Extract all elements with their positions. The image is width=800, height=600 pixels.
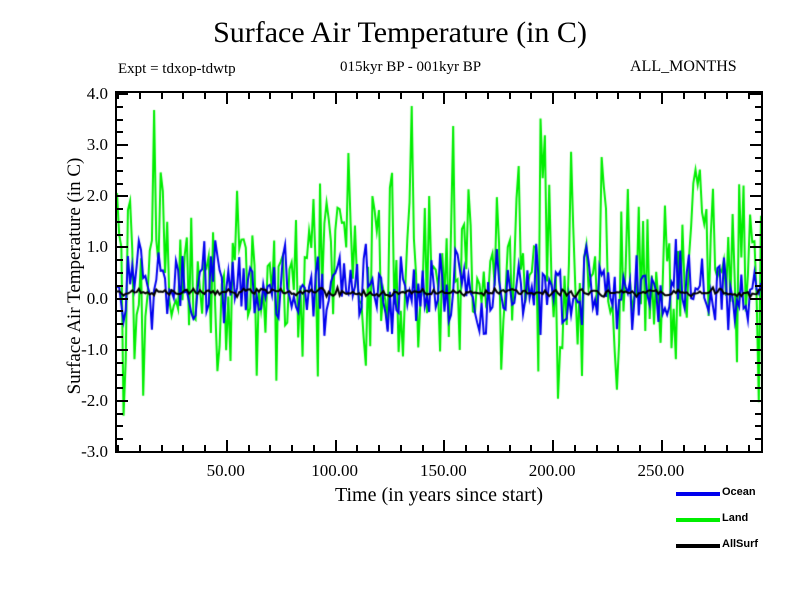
tick-mark	[117, 451, 128, 453]
tick-mark	[117, 400, 128, 402]
tick-mark	[750, 298, 761, 300]
y-tick-label: 2.0	[60, 187, 108, 204]
page-title: Surface Air Temperature (in C)	[0, 16, 800, 50]
tick-mark	[291, 93, 293, 99]
tick-mark	[755, 157, 761, 159]
chart-legend: OceanLandAllSurf	[676, 484, 796, 562]
tick-mark	[755, 259, 761, 261]
tick-mark	[356, 93, 358, 99]
tick-mark	[465, 445, 467, 451]
tick-mark	[661, 93, 663, 104]
y-tick-label: 4.0	[60, 85, 108, 102]
tick-mark	[755, 208, 761, 210]
y-tick-label: -1.0	[60, 341, 108, 358]
tick-mark	[755, 221, 761, 223]
tick-mark	[291, 445, 293, 451]
tick-mark	[117, 119, 123, 121]
tick-mark	[755, 438, 761, 440]
tick-mark	[755, 387, 761, 389]
tick-mark	[117, 445, 119, 451]
tick-mark	[117, 336, 123, 338]
tick-mark	[487, 445, 489, 451]
tick-mark	[117, 234, 123, 236]
tick-mark	[161, 445, 163, 451]
tick-mark	[639, 445, 641, 451]
y-tick-label: -2.0	[60, 392, 108, 409]
tick-mark	[182, 445, 184, 451]
x-axis-title: Time (in years since start)	[115, 483, 763, 507]
legend-item-land[interactable]: Land	[676, 510, 796, 536]
tick-mark	[117, 362, 123, 364]
tick-mark	[313, 445, 315, 451]
tick-mark	[755, 272, 761, 274]
experiment-label: Expt = tdxop-tdwtp	[118, 60, 236, 78]
x-tick-label: 50.00	[181, 462, 271, 479]
months-label: ALL_MONTHS	[630, 58, 737, 76]
tick-mark	[378, 93, 380, 99]
legend-item-allsurf[interactable]: AllSurf	[676, 536, 796, 562]
tick-mark	[574, 445, 576, 451]
tick-mark	[117, 195, 128, 197]
tick-mark	[117, 374, 123, 376]
tick-mark	[204, 93, 206, 99]
tick-mark	[117, 413, 123, 415]
tick-mark	[117, 298, 128, 300]
legend-label: Land	[722, 511, 748, 525]
tick-mark	[755, 170, 761, 172]
tick-mark	[117, 183, 123, 185]
tick-mark	[726, 93, 728, 99]
tick-mark	[204, 445, 206, 451]
tick-mark	[509, 93, 511, 99]
tick-mark	[117, 323, 123, 325]
tick-mark	[704, 445, 706, 451]
tick-mark	[755, 323, 761, 325]
tick-mark	[378, 445, 380, 451]
tick-mark	[422, 93, 424, 99]
legend-swatch	[676, 544, 720, 548]
tick-mark	[596, 93, 598, 99]
tick-mark	[335, 93, 337, 104]
legend-label: AllSurf	[722, 537, 758, 551]
tick-mark	[226, 93, 228, 104]
tick-mark	[530, 445, 532, 451]
tick-mark	[530, 93, 532, 99]
y-tick-label: 1.0	[60, 238, 108, 255]
x-tick-label: 150.00	[398, 462, 488, 479]
tick-mark	[139, 445, 141, 451]
tick-mark	[117, 170, 123, 172]
tick-mark	[755, 119, 761, 121]
tick-mark	[117, 310, 123, 312]
tick-mark	[117, 144, 128, 146]
tick-mark	[683, 93, 685, 99]
tick-mark	[139, 93, 141, 99]
tick-mark	[755, 234, 761, 236]
tick-mark	[422, 445, 424, 451]
tick-mark	[755, 310, 761, 312]
tick-mark	[117, 259, 123, 261]
y-tick-label: 3.0	[60, 136, 108, 153]
x-tick-label: 250.00	[616, 462, 706, 479]
tick-mark	[704, 93, 706, 99]
tick-mark	[750, 93, 761, 95]
tick-mark	[117, 387, 123, 389]
tick-mark	[639, 93, 641, 99]
tick-mark	[117, 93, 119, 99]
tick-mark	[750, 349, 761, 351]
y-tick-label: -3.0	[60, 443, 108, 460]
tick-mark	[552, 440, 554, 451]
series-canvas	[117, 93, 761, 451]
tick-mark	[117, 106, 123, 108]
tick-mark	[661, 440, 663, 451]
tick-mark	[182, 93, 184, 99]
tick-mark	[117, 285, 123, 287]
period-label: 015kyr BP - 001kyr BP	[340, 58, 481, 76]
tick-mark	[117, 246, 128, 248]
tick-mark	[617, 445, 619, 451]
tick-mark	[117, 157, 123, 159]
tick-mark	[755, 131, 761, 133]
tick-mark	[755, 425, 761, 427]
tick-mark	[509, 445, 511, 451]
tick-mark	[683, 445, 685, 451]
tick-mark	[248, 93, 250, 99]
legend-label: Ocean	[722, 485, 756, 499]
tick-mark	[161, 93, 163, 99]
tick-mark	[117, 425, 123, 427]
tick-mark	[748, 445, 750, 451]
tick-mark	[356, 445, 358, 451]
x-tick-label: 100.00	[290, 462, 380, 479]
tick-mark	[755, 362, 761, 364]
tick-mark	[443, 93, 445, 104]
tick-mark	[117, 221, 123, 223]
plot-area	[115, 91, 763, 453]
tick-mark	[465, 93, 467, 99]
tick-mark	[750, 195, 761, 197]
y-tick-label: 0.0	[60, 290, 108, 307]
tick-mark	[269, 445, 271, 451]
tick-mark	[755, 374, 761, 376]
tick-mark	[248, 445, 250, 451]
tick-mark	[726, 445, 728, 451]
tick-mark	[117, 131, 123, 133]
tick-mark	[755, 413, 761, 415]
tick-mark	[617, 93, 619, 99]
tick-mark	[552, 93, 554, 104]
tick-mark	[750, 400, 761, 402]
tick-mark	[755, 336, 761, 338]
tick-mark	[755, 285, 761, 287]
chart-figure: Surface Air Temperature (in C) Expt = td…	[0, 0, 800, 600]
tick-mark	[750, 246, 761, 248]
tick-mark	[574, 93, 576, 99]
tick-mark	[226, 440, 228, 451]
tick-mark	[313, 93, 315, 99]
tick-mark	[748, 93, 750, 99]
tick-mark	[755, 106, 761, 108]
tick-mark	[750, 144, 761, 146]
tick-mark	[750, 451, 761, 453]
tick-mark	[443, 440, 445, 451]
tick-mark	[117, 208, 123, 210]
legend-item-ocean[interactable]: Ocean	[676, 484, 796, 510]
tick-mark	[269, 93, 271, 99]
tick-mark	[596, 445, 598, 451]
tick-mark	[487, 93, 489, 99]
tick-mark	[400, 93, 402, 99]
legend-swatch	[676, 518, 720, 522]
tick-mark	[755, 183, 761, 185]
tick-mark	[117, 438, 123, 440]
legend-swatch	[676, 492, 720, 496]
tick-mark	[335, 440, 337, 451]
tick-mark	[117, 349, 128, 351]
x-tick-label: 200.00	[507, 462, 597, 479]
tick-mark	[400, 445, 402, 451]
tick-mark	[117, 272, 123, 274]
